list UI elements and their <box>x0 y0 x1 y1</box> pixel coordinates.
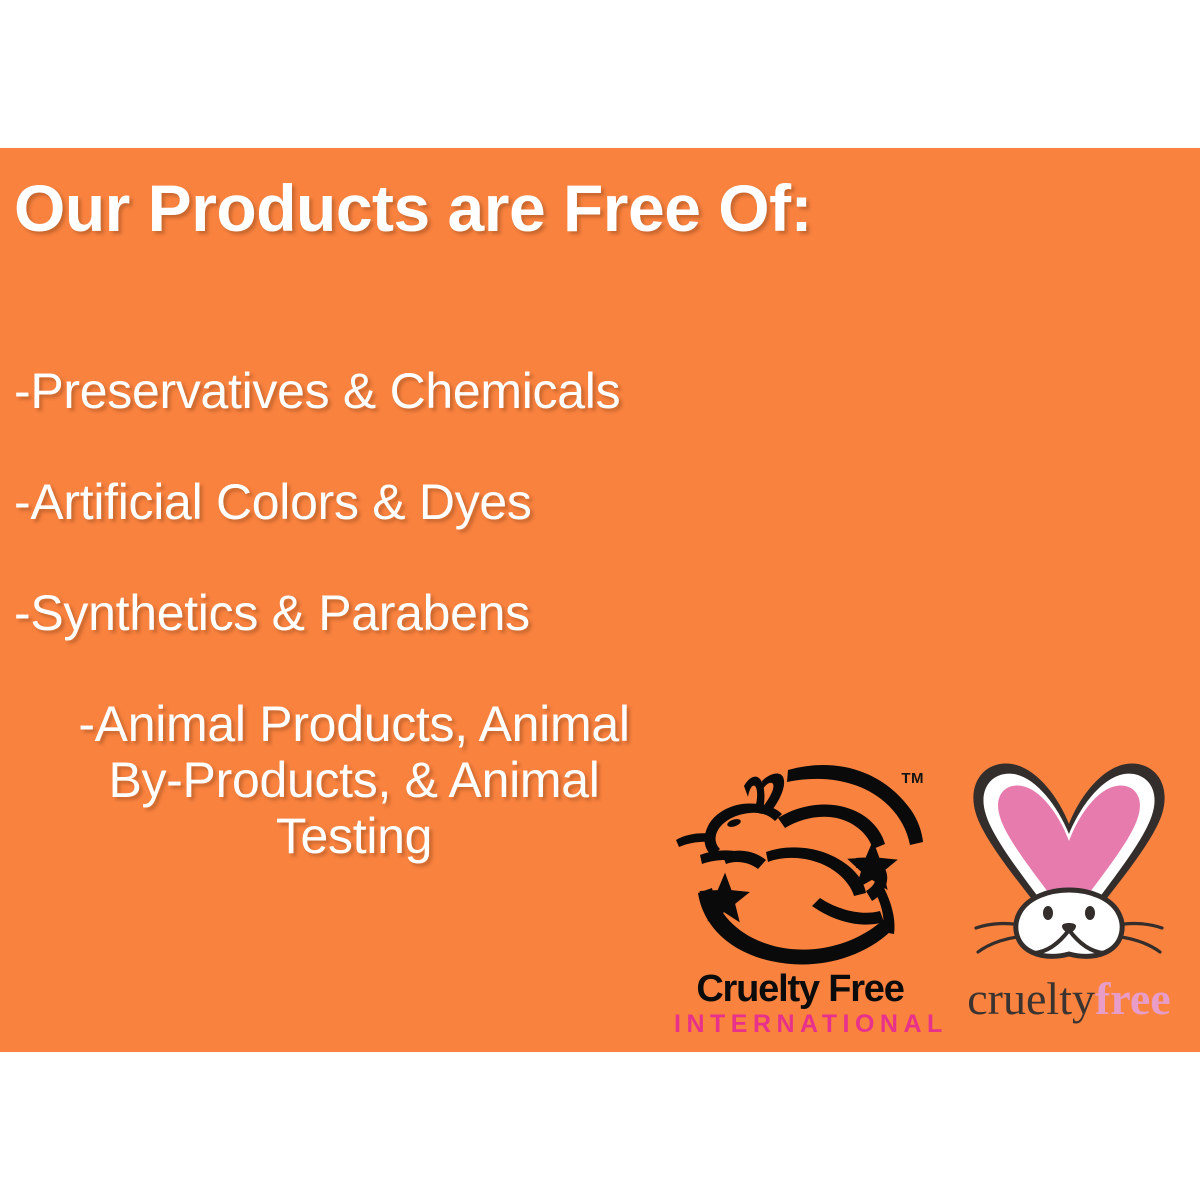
list-item: -Artificial Colors & Dyes <box>14 474 694 530</box>
list-item: -Synthetics & Parabens <box>14 585 694 641</box>
cruelty-free-bunny-logo: crueltyfree <box>938 748 1200 1048</box>
trademark-symbol: TM <box>901 770 924 787</box>
list-item: -Animal Products, Animal By-Products, & … <box>14 696 694 864</box>
cfi-wordmark: Cruelty Free INTERNATIONAL <box>670 970 930 1039</box>
cf-word-free: free <box>1095 973 1171 1024</box>
certification-logos: TM Cruelty Free INTERNATIONAL <box>660 748 1200 1048</box>
free-of-list: -Preservatives & Chemicals -Artificial C… <box>14 363 694 864</box>
bunny-heart-ears-icon <box>938 742 1200 982</box>
cruelty-free-international-logo: TM Cruelty Free INTERNATIONAL <box>670 748 930 1048</box>
leaping-rabbit-icon <box>670 748 930 968</box>
page-title: Our Products are Free Of: <box>14 174 1014 243</box>
list-item: -Preservatives & Chemicals <box>14 363 694 419</box>
cfi-name: Cruelty Free <box>670 970 930 1008</box>
graphic-canvas: Our Products are Free Of: -Preservatives… <box>0 0 1200 1200</box>
cf-wordmark: crueltyfree <box>938 976 1200 1022</box>
cfi-subtitle: INTERNATIONAL <box>670 1010 930 1039</box>
cf-word-cruelty: cruelty <box>967 973 1095 1024</box>
orange-panel: Our Products are Free Of: -Preservatives… <box>0 148 1200 1052</box>
